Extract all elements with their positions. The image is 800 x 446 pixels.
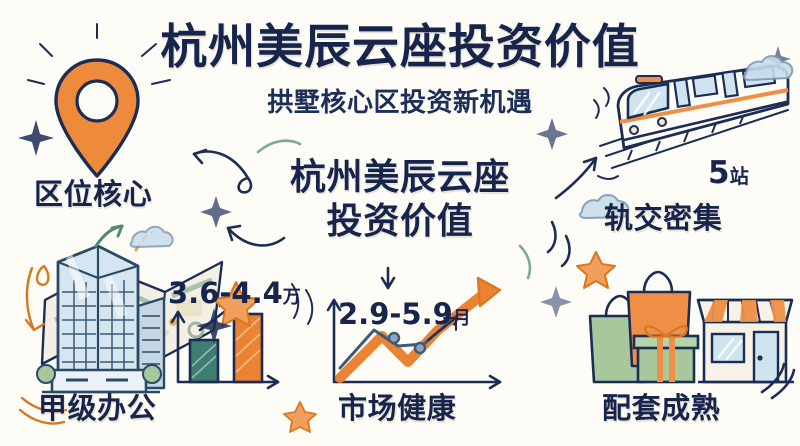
stat-stations-unit: 站 xyxy=(730,165,749,188)
line-chart-icon xyxy=(328,278,500,388)
page-subtitle: 拱墅核心区投资新机遇 xyxy=(0,86,800,120)
infographic-poster: .nv { stroke:#1b2d55; fill:none; stroke-… xyxy=(0,0,800,446)
stat-cycle-unit: 月 xyxy=(453,308,471,329)
stat-cycle: 2.9-5.9月 xyxy=(338,297,471,331)
stat-stations: 5站 xyxy=(708,155,749,191)
stat-stations-value: 5 xyxy=(708,155,730,191)
badge-label-transit: 轨交密集 xyxy=(604,200,722,236)
badge-label-amenity: 配套成熟 xyxy=(602,390,720,426)
center-headline-line1: 杭州美辰云座 xyxy=(290,157,510,198)
stat-price-value: 3.6-4.4 xyxy=(168,276,283,310)
stat-price-unit: 万 xyxy=(283,287,301,308)
page-title: 杭州美辰云座投资价值 xyxy=(0,20,800,76)
badge-label-market: 市场健康 xyxy=(338,390,456,426)
shopping-store-icon xyxy=(590,272,794,382)
badge-label-office: 甲级办公 xyxy=(38,390,156,426)
stat-cycle-value: 2.9-5.9 xyxy=(338,297,453,331)
stat-price: 3.6-4.4万 xyxy=(168,276,301,310)
badge-label-location: 区位核心 xyxy=(34,176,152,212)
